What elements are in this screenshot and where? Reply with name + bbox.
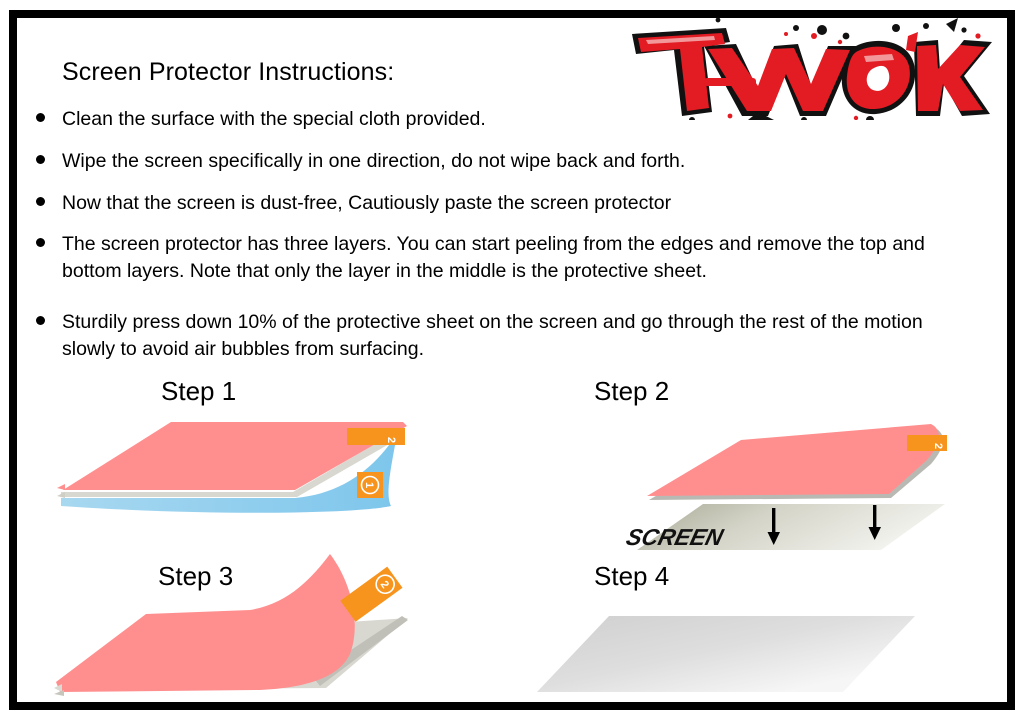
step-2-figure: SCREEN 2 (595, 400, 995, 565)
peel-tab-2: 2 (347, 428, 405, 445)
instruction-text: Now that the screen is dust-free, Cautio… (62, 190, 966, 217)
top-layer (56, 554, 355, 692)
instruction-text: Clean the surface with the special cloth… (62, 106, 966, 133)
step-2-diagram: SCREEN 2 (595, 400, 995, 560)
tab-label: 1 (363, 482, 375, 488)
page-title: Screen Protector Instructions: (62, 58, 394, 87)
step-3-figure: 2 (50, 552, 430, 712)
list-item: The screen protector has three layers. Y… (36, 231, 966, 285)
screen-label: SCREEN (624, 524, 727, 550)
instruction-sheet: Screen Protector Instructions: (0, 0, 1024, 724)
bullet-icon (36, 238, 45, 247)
bullet-icon (36, 197, 45, 206)
bullet-icon (36, 113, 45, 122)
instruction-text: The screen protector has three layers. Y… (62, 231, 966, 285)
peel-tab-1: 1 (357, 472, 383, 498)
tab-label: 2 (385, 437, 397, 443)
bullet-icon (36, 155, 45, 164)
step-4-caption: Step 4 (594, 561, 669, 592)
step-1-diagram: 2 1 (55, 410, 415, 525)
step-1-caption: Step 1 (161, 376, 236, 407)
logo-graphic (608, 16, 998, 120)
step-4-diagram (525, 600, 945, 700)
list-item: Clean the surface with the special cloth… (36, 106, 966, 133)
peel-tab-2: 2 (340, 567, 402, 622)
step-4-figure (525, 600, 945, 705)
peel-tab-2: 2 (907, 435, 947, 451)
tab-label: 2 (932, 443, 944, 449)
instruction-text: Wipe the screen specifically in one dire… (62, 148, 966, 175)
finished-screen (537, 616, 915, 692)
list-item: Wipe the screen specifically in one dire… (36, 148, 966, 175)
instruction-text: Sturdily press down 10% of the protectiv… (62, 309, 966, 363)
edge-sliver (57, 484, 65, 490)
brand-logo (608, 16, 998, 120)
top-layer (647, 424, 939, 496)
step-3-diagram: 2 (50, 552, 430, 707)
bullet-icon (36, 316, 45, 325)
list-item: Sturdily press down 10% of the protectiv… (36, 309, 966, 363)
edge-sliver (54, 690, 64, 696)
list-item: Now that the screen is dust-free, Cautio… (36, 190, 966, 217)
step-1-figure: 2 1 (55, 410, 415, 530)
